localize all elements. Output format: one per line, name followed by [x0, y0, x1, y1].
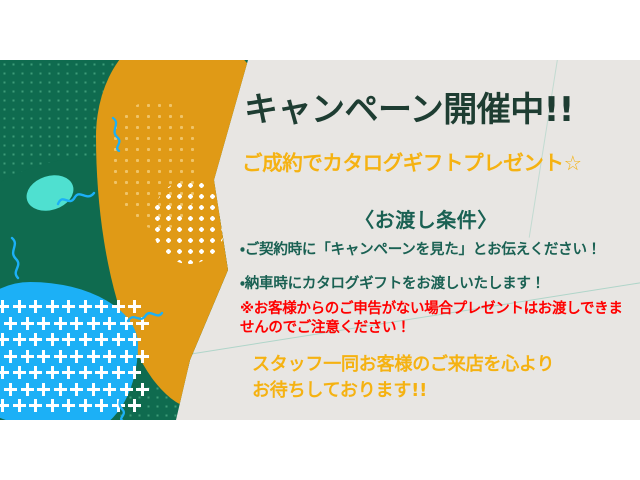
plus-glyph — [95, 300, 108, 313]
headline-campaign: キャンペーン開催中!! — [244, 82, 640, 131]
squiggle-line-1 — [56, 188, 96, 210]
plus-glyph — [87, 350, 100, 363]
plus-glyph — [13, 366, 26, 379]
closing-message-line-1: スタッフ一同お客様のご来店を心より — [252, 352, 640, 378]
plus-glyph — [120, 350, 133, 363]
plus-glyph — [112, 366, 125, 379]
squiggle-line-4 — [126, 308, 164, 328]
plus-glyph — [70, 317, 83, 330]
plus-glyph — [29, 399, 42, 412]
subtitle-gift-present: ご成約でカタログギフトプレゼント☆ — [242, 146, 640, 176]
plus-glyph — [13, 300, 26, 313]
plus-glyph — [37, 383, 50, 396]
closing-message-line-2: お待ちしております!! — [252, 378, 640, 404]
plus-glyph — [0, 399, 9, 412]
plus-glyph — [79, 300, 92, 313]
plus-glyph — [21, 383, 34, 396]
plus-glyph — [79, 399, 92, 412]
plus-glyph — [62, 366, 75, 379]
plus-glyph — [46, 333, 59, 346]
plus-glyph — [13, 333, 26, 346]
plus-glyph — [95, 333, 108, 346]
conditions-heading: 〈お渡し条件〉 — [236, 204, 616, 233]
plus-glyph — [79, 333, 92, 346]
plus-glyph — [29, 333, 42, 346]
plus-glyph — [112, 333, 125, 346]
plus-glyph — [136, 383, 149, 396]
plus-glyph — [29, 300, 42, 313]
plus-glyph — [21, 317, 34, 330]
plus-glyph — [54, 383, 67, 396]
plus-glyph — [87, 383, 100, 396]
plus-glyph — [128, 333, 141, 346]
plus-glyph — [136, 350, 149, 363]
campaign-banner: キャンペーン開催中!! ご成約でカタログギフトプレゼント☆ 〈お渡し条件〉 ・ご… — [0, 0, 640, 480]
squiggle-line-3 — [106, 116, 132, 152]
plus-glyph — [46, 399, 59, 412]
plus-glyph — [70, 383, 83, 396]
closing-message: スタッフ一同お客様のご来店を心より お待ちしております!! — [252, 352, 640, 404]
plus-glyph — [87, 317, 100, 330]
plus-glyph — [54, 350, 67, 363]
plus-glyph — [54, 317, 67, 330]
plus-glyph — [46, 366, 59, 379]
plus-glyph — [0, 300, 9, 313]
plus-glyph — [4, 317, 17, 330]
condition-bullet-2: ・納車時にカタログギフトをお渡しいたします！ — [240, 272, 545, 293]
plus-glyph — [0, 366, 9, 379]
text-column: キャンペーン開催中!! ご成約でカタログギフトプレゼント☆ 〈お渡し条件〉 ・ご… — [236, 60, 640, 420]
plus-glyph — [62, 333, 75, 346]
plus-glyph — [37, 317, 50, 330]
squiggle-line-5 — [112, 388, 132, 420]
warning-notice: ※お客様からのご申告がない場合プレゼントはお渡しできませんのでご注意ください！ — [240, 300, 634, 337]
plus-glyph — [0, 333, 9, 346]
plus-glyph — [79, 366, 92, 379]
plus-glyph — [128, 366, 141, 379]
plus-glyph — [62, 399, 75, 412]
plus-glyph — [29, 366, 42, 379]
plus-glyph — [37, 350, 50, 363]
plus-glyph — [4, 383, 17, 396]
plus-glyph — [46, 300, 59, 313]
squiggle-line-2 — [6, 236, 28, 280]
plus-glyph — [95, 399, 108, 412]
artboard: キャンペーン開催中!! ご成約でカタログギフトプレゼント☆ 〈お渡し条件〉 ・ご… — [0, 60, 640, 420]
plus-glyph — [112, 300, 125, 313]
plus-glyph — [4, 350, 17, 363]
plus-glyph — [95, 366, 108, 379]
plus-glyph — [62, 300, 75, 313]
white-dot-circle — [152, 180, 226, 264]
plus-glyph — [103, 350, 116, 363]
condition-bullet-1: ・ご契約時に「キャンペーンを見た」とお伝えください！ — [240, 238, 601, 259]
plus-glyph — [70, 350, 83, 363]
plus-glyph — [103, 317, 116, 330]
plus-glyph — [21, 350, 34, 363]
plus-glyph — [13, 399, 26, 412]
